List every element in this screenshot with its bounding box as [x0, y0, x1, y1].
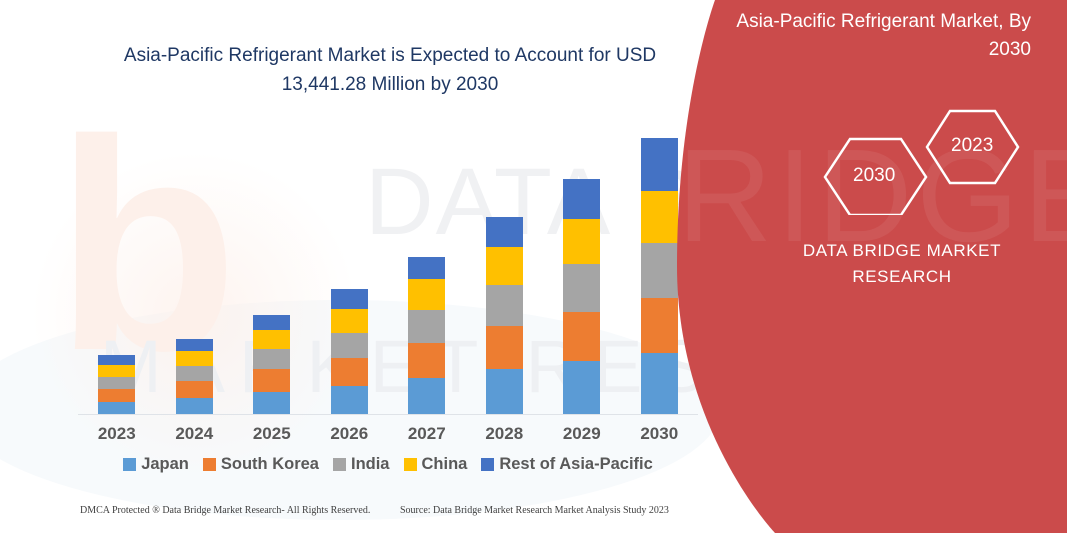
bar-segment — [486, 326, 523, 369]
legend-item[interactable]: China — [404, 455, 468, 474]
chart-legend: JapanSouth KoreaIndiaChinaRest of Asia-P… — [78, 455, 698, 474]
stacked-bar[interactable] — [176, 339, 213, 415]
bar-segment — [98, 389, 135, 402]
bar-segment — [331, 333, 368, 359]
x-axis-labels: 20232024202520262027202820292030 — [78, 424, 698, 444]
x-axis-label: 2023 — [78, 424, 156, 444]
hexagon-group: 2030 2023 — [807, 105, 1037, 215]
x-axis-label: 2025 — [233, 424, 311, 444]
x-axis-label: 2029 — [543, 424, 621, 444]
footer-dmca-text: DMCA Protected ® Data Bridge Market Rese… — [80, 505, 370, 516]
stacked-bar[interactable] — [486, 217, 523, 415]
bar-segment — [563, 361, 600, 415]
hexagon-2023-label: 2023 — [951, 135, 993, 157]
right-red-panel: RIDGE Asia-Pacific Refrigerant Market, B… — [667, 0, 1067, 533]
legend-label: China — [422, 455, 468, 474]
legend-swatch-icon — [404, 458, 417, 471]
legend-item[interactable]: India — [333, 455, 390, 474]
bar-slot-2023 — [78, 112, 156, 415]
legend-swatch-icon — [481, 458, 494, 471]
stacked-bar[interactable] — [253, 315, 290, 415]
bar-segment — [563, 219, 600, 264]
bar-segment — [331, 309, 368, 333]
legend-swatch-icon — [203, 458, 216, 471]
bar-segment — [486, 285, 523, 326]
bar-segment — [98, 365, 135, 377]
footer-source-text: Source: Data Bridge Market Research Mark… — [400, 505, 669, 516]
bar-segment — [408, 378, 445, 415]
bar-segment — [176, 381, 213, 398]
bar-segment — [331, 358, 368, 386]
bar-slot-2024 — [156, 112, 234, 415]
bar-slot-2028 — [466, 112, 544, 415]
x-axis-line — [78, 414, 698, 415]
brand-line-2: RESEARCH — [777, 264, 1027, 290]
bar-slot-2026 — [311, 112, 389, 415]
legend-label: India — [351, 455, 390, 474]
bar-segment — [98, 355, 135, 365]
brand-name: DATA BRIDGE MARKET RESEARCH — [777, 238, 1027, 291]
hexagon-shapes — [807, 105, 1037, 215]
bar-segment — [331, 386, 368, 415]
x-axis-label: 2026 — [311, 424, 389, 444]
bar-segment — [253, 392, 290, 415]
footer: DMCA Protected ® Data Bridge Market Rese… — [0, 505, 700, 527]
legend-swatch-icon — [123, 458, 136, 471]
stacked-bar[interactable] — [408, 257, 445, 415]
bar-segment — [563, 312, 600, 361]
x-axis-label: 2027 — [388, 424, 466, 444]
bar-segment — [253, 349, 290, 369]
bar-segment — [253, 369, 290, 391]
chart-plot-area — [78, 112, 698, 415]
brand-line-1: DATA BRIDGE MARKET — [777, 238, 1027, 264]
bar-slot-2029 — [543, 112, 621, 415]
stacked-bar[interactable] — [331, 289, 368, 415]
x-axis-label: 2024 — [156, 424, 234, 444]
stacked-bar-chart — [78, 110, 698, 415]
bar-segment — [486, 369, 523, 415]
bar-slot-2027 — [388, 112, 466, 415]
legend-item[interactable]: Rest of Asia-Pacific — [481, 455, 652, 474]
legend-label: Rest of Asia-Pacific — [499, 455, 652, 474]
bar-segment — [563, 264, 600, 312]
bar-segment — [331, 289, 368, 308]
legend-swatch-icon — [333, 458, 346, 471]
bar-segment — [253, 330, 290, 349]
bar-segment — [176, 366, 213, 381]
infographic-root: b DATA BRIDGE MARKET RESEARCH Asia-Pacif… — [0, 0, 1067, 533]
bar-segment — [408, 310, 445, 343]
bar-segment — [408, 279, 445, 310]
bar-segment — [253, 315, 290, 330]
legend-item[interactable]: South Korea — [203, 455, 319, 474]
legend-label: Japan — [141, 455, 189, 474]
chart-title: Asia-Pacific Refrigerant Market is Expec… — [100, 42, 680, 99]
bar-slot-2025 — [233, 112, 311, 415]
bar-segment — [486, 217, 523, 248]
legend-item[interactable]: Japan — [123, 455, 189, 474]
bar-segment — [408, 343, 445, 378]
bar-segment — [563, 179, 600, 219]
x-axis-label: 2028 — [466, 424, 544, 444]
stacked-bar[interactable] — [563, 179, 600, 415]
bar-segment — [98, 377, 135, 389]
bar-segment — [486, 247, 523, 285]
bar-segment — [176, 351, 213, 366]
bar-segment — [408, 257, 445, 279]
stacked-bar[interactable] — [98, 355, 135, 415]
bar-segment — [176, 339, 213, 351]
red-panel-title: Asia-Pacific Refrigerant Market, By 2030 — [731, 8, 1031, 63]
bar-segment — [176, 398, 213, 415]
hexagon-2030-label: 2030 — [853, 165, 895, 187]
legend-label: South Korea — [221, 455, 319, 474]
